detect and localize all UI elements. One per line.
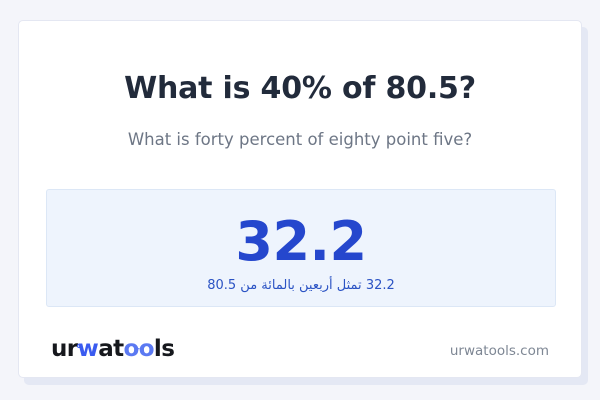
card-footer: urwatools urwatools.com	[19, 313, 581, 377]
logo-text-part-2: w	[78, 336, 99, 362]
logo-text-part-3: at	[98, 336, 123, 362]
logo-glasses-icon: oo	[124, 338, 154, 361]
question-subtitle: What is forty percent of eighty point fi…	[19, 129, 581, 150]
result-box: 32.2 32.2 تمثل أربعين بالمائة من 80.5	[46, 189, 556, 307]
site-url-label: urwatools.com	[450, 345, 549, 359]
logo-text-part-5: ls	[154, 336, 174, 362]
result-note-arabic: 32.2 تمثل أربعين بالمائة من 80.5	[47, 278, 555, 295]
page-title: What is 40% of 80.5?	[19, 71, 581, 107]
logo-text-part-1: ur	[51, 336, 78, 362]
result-card: What is 40% of 80.5? What is forty perce…	[18, 20, 582, 378]
page-root: What is 40% of 80.5? What is forty perce…	[0, 0, 600, 400]
result-value: 32.2	[47, 214, 555, 271]
urwatools-logo[interactable]: urwatools	[51, 338, 174, 361]
